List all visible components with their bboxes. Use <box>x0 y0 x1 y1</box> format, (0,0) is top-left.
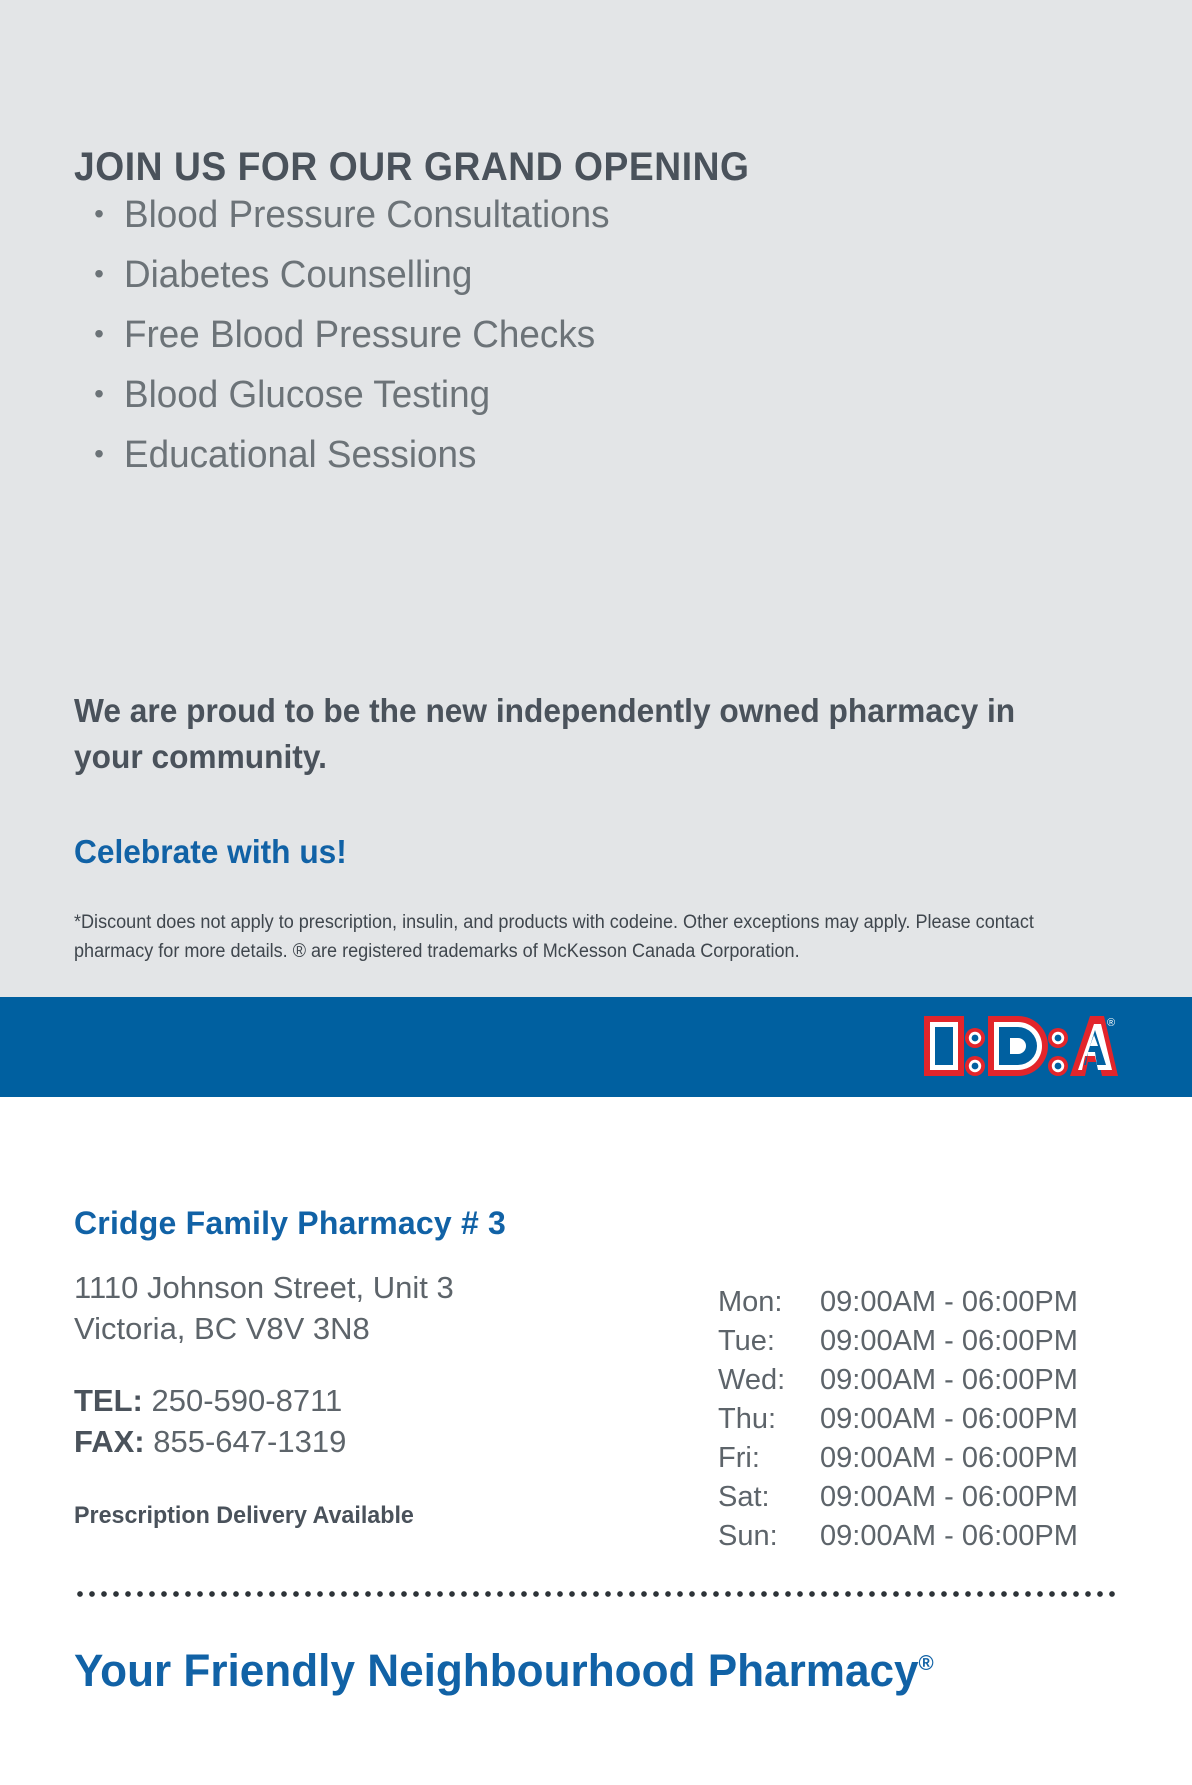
list-item: • Diabetes Counselling <box>74 256 625 296</box>
bullet-icon: • <box>74 200 124 228</box>
telephone-line: TEL: 250-590-8711 <box>74 1381 674 1422</box>
store-address-line-1: 1110 Johnson Street, Unit 3 <box>74 1268 674 1309</box>
disclaimer-text: *Discount does not apply to prescription… <box>74 909 1070 967</box>
hours-time: 09:00AM - 06:00PM <box>820 1283 1078 1322</box>
hours-day: Fri: <box>718 1439 820 1478</box>
hours-day: Thu: <box>718 1400 820 1439</box>
hours-time: 09:00AM - 06:00PM <box>820 1361 1078 1400</box>
celebrate-call-to-action: Celebrate with us! <box>74 833 347 871</box>
list-item: • Blood Glucose Testing <box>74 376 625 416</box>
store-address-line-2: Victoria, BC V8V 3N8 <box>74 1309 674 1350</box>
hours-time: 09:00AM - 06:00PM <box>820 1322 1078 1361</box>
hours-day: Sun: <box>718 1517 820 1556</box>
hours-row: Sun: 09:00AM - 06:00PM <box>718 1517 1118 1556</box>
list-item: • Free Blood Pressure Checks <box>74 316 625 356</box>
fax-line: FAX: 855-647-1319 <box>74 1422 674 1463</box>
hours-day: Mon: <box>718 1283 820 1322</box>
proud-statement: We are proud to be the new independently… <box>74 688 1034 779</box>
tagline-text: Your Friendly Neighbourhood Pharmacy <box>74 1645 919 1696</box>
hours-row: Thu: 09:00AM - 06:00PM <box>718 1400 1118 1439</box>
hours-day: Sat: <box>718 1478 820 1517</box>
telephone-label: TEL: <box>74 1383 143 1418</box>
telephone-value[interactable]: 250-590-8711 <box>152 1383 343 1418</box>
store-hours: Mon: 09:00AM - 06:00PM Tue: 09:00AM - 06… <box>718 1283 1118 1556</box>
hours-row: Mon: 09:00AM - 06:00PM <box>718 1283 1118 1322</box>
hours-row: Wed: 09:00AM - 06:00PM <box>718 1361 1118 1400</box>
bullet-icon: • <box>74 260 124 288</box>
hours-time: 09:00AM - 06:00PM <box>820 1439 1078 1478</box>
service-label: Blood Pressure Consultations <box>124 196 610 236</box>
list-item: • Blood Pressure Consultations <box>74 196 625 236</box>
bullet-icon: • <box>74 320 124 348</box>
grand-opening-panel: JOIN US FOR OUR GRAND OPENING • Blood Pr… <box>0 0 1192 997</box>
hours-row: Fri: 09:00AM - 06:00PM <box>718 1439 1118 1478</box>
hours-time: 09:00AM - 06:00PM <box>820 1478 1078 1517</box>
service-label: Educational Sessions <box>124 436 476 476</box>
registered-mark-icon: ® <box>1107 1017 1115 1029</box>
tagline: Your Friendly Neighbourhood Pharmacy® <box>74 1645 934 1697</box>
store-details: Cridge Family Pharmacy # 3 1110 Johnson … <box>74 1205 674 1530</box>
pharmacy-flyer: JOIN US FOR OUR GRAND OPENING • Blood Pr… <box>0 0 1192 1785</box>
service-label: Diabetes Counselling <box>124 256 472 296</box>
hours-time: 09:00AM - 06:00PM <box>820 1400 1078 1439</box>
bullet-icon: • <box>74 380 124 408</box>
service-label: Free Blood Pressure Checks <box>124 316 595 356</box>
hours-row: Sat: 09:00AM - 06:00PM <box>718 1478 1118 1517</box>
brand-band: ® <box>0 997 1192 1097</box>
ida-logo: ® <box>918 1008 1118 1084</box>
hours-time: 09:00AM - 06:00PM <box>820 1517 1078 1556</box>
list-item: • Educational Sessions <box>74 436 625 476</box>
service-label: Blood Glucose Testing <box>124 376 490 416</box>
fax-value: 855-647-1319 <box>153 1424 346 1459</box>
hours-day: Wed: <box>718 1361 820 1400</box>
page-title: JOIN US FOR OUR GRAND OPENING <box>74 145 750 190</box>
hours-day: Tue: <box>718 1322 820 1361</box>
store-name: Cridge Family Pharmacy # 3 <box>74 1205 674 1242</box>
services-list: • Blood Pressure Consultations • Diabete… <box>74 196 625 495</box>
dotted-divider <box>74 1590 1118 1598</box>
hours-row: Tue: 09:00AM - 06:00PM <box>718 1322 1118 1361</box>
fax-label: FAX: <box>74 1424 145 1459</box>
bullet-icon: • <box>74 440 124 468</box>
registered-mark-icon: ® <box>919 1652 934 1675</box>
contact-block: TEL: 250-590-8711 FAX: 855-647-1319 <box>74 1381 674 1462</box>
delivery-note: Prescription Delivery Available <box>74 1502 656 1530</box>
